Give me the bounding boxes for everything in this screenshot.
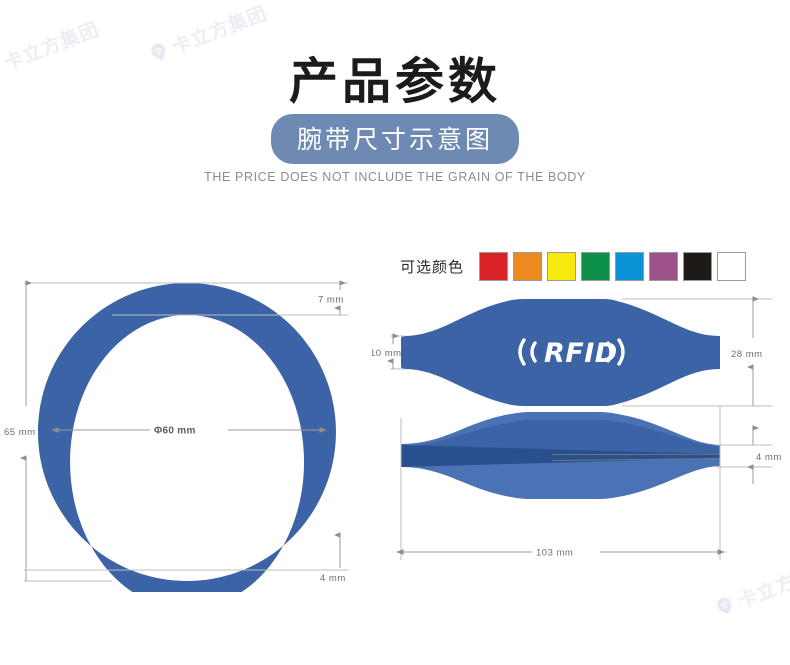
- dimension-4mm-label: 4 mm: [320, 573, 346, 584]
- dimension-65mm-label: 65 mm: [4, 427, 36, 438]
- rfid-logo-text: RFID: [544, 338, 618, 369]
- page-subtitle: THE PRICE DOES NOT INCLUDE THE GRAIN OF …: [0, 170, 790, 184]
- dimension-10mm-label: 10 mm: [372, 348, 402, 359]
- dimension-103mm-label: 103 mm: [536, 548, 573, 559]
- color-options: 可选颜色: [400, 252, 746, 281]
- dimension-10mm: 10 mm: [372, 336, 405, 369]
- dimension-4mm: 4 mm: [24, 535, 348, 584]
- color-swatch-list: [479, 252, 746, 281]
- color-swatch-green[interactable]: [581, 252, 610, 281]
- wristband-edge-view-shape: [401, 412, 720, 499]
- dimension-28mm-label: 28 mm: [731, 349, 763, 360]
- color-swatch-white[interactable]: [717, 252, 746, 281]
- color-swatch-yellow[interactable]: [547, 252, 576, 281]
- dimension-diameter-label: Φ60 mm: [154, 426, 196, 437]
- color-swatch-red[interactable]: [479, 252, 508, 281]
- color-options-label: 可选颜色: [400, 256, 464, 277]
- location-pin-wifi-icon: [713, 594, 738, 619]
- page-title: 产品参数: [0, 42, 790, 113]
- dimension-diameter-60mm: Φ60 mm: [58, 426, 320, 437]
- flat-wristband-diagram: RFID 10 mm 28 mm: [372, 288, 790, 578]
- circular-wristband-diagram: 65 mm Φ60 mm 7 mm 4 mm: [0, 272, 375, 592]
- dimension-thickness-4mm: 4 mm: [716, 428, 782, 484]
- color-swatch-orange[interactable]: [513, 252, 542, 281]
- color-swatch-purple[interactable]: [649, 252, 678, 281]
- dimension-7mm-label: 7 mm: [318, 295, 344, 306]
- wristband-ring-shape: [38, 283, 336, 592]
- section-badge: 腕带尺寸示意图: [271, 114, 519, 164]
- color-swatch-blue[interactable]: [615, 252, 644, 281]
- product-spec-page: 卡立方集团 卡立方集团 卡立方集团 产品参数 腕带尺寸示意图 THE PRICE…: [0, 0, 790, 665]
- dimension-thickness-4mm-label: 4 mm: [756, 452, 782, 463]
- color-swatch-black[interactable]: [683, 252, 712, 281]
